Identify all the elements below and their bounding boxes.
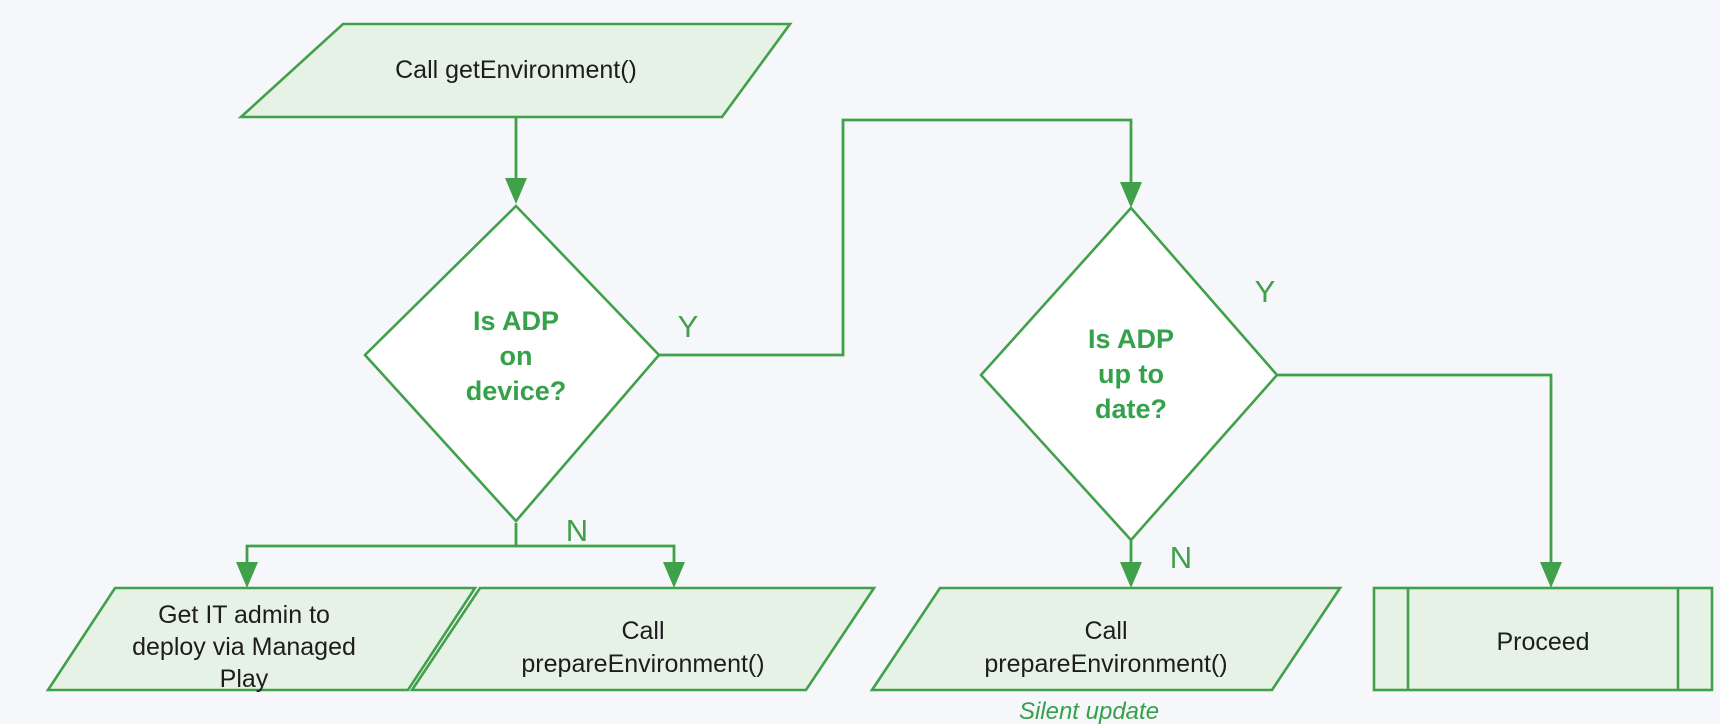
node-call-get-environment[interactable]: Call getEnvironment() bbox=[241, 24, 790, 117]
node-call-prepare-environment-right[interactable]: Call prepareEnvironment() bbox=[872, 588, 1340, 690]
annotation-silent-update: Silent update bbox=[1019, 698, 1159, 724]
node-decision-is-adp-up-to-date-line3: date? bbox=[1095, 394, 1167, 424]
node-call-prepare-environment-left-line2: prepareEnvironment() bbox=[521, 650, 764, 678]
branch-label-up-to-date-no: N bbox=[1170, 540, 1192, 575]
flowchart-canvas: Call getEnvironment() Is ADP on device? … bbox=[0, 0, 1720, 724]
node-decision-is-adp-up-to-date-line2: up to bbox=[1098, 359, 1164, 389]
node-call-get-environment-label: Call getEnvironment() bbox=[395, 56, 637, 84]
node-decision-is-adp-on-device-line2: on bbox=[500, 341, 533, 371]
branch-label-up-to-date-yes: Y bbox=[1255, 274, 1276, 309]
connector-up-to-date-yes-to-proceed bbox=[1276, 375, 1562, 588]
node-call-prepare-environment-right-line2: prepareEnvironment() bbox=[984, 650, 1227, 678]
node-decision-is-adp-on-device-line1: Is ADP bbox=[473, 306, 559, 336]
node-proceed[interactable]: Proceed bbox=[1374, 588, 1712, 690]
node-get-it-admin-deploy-line3: Play bbox=[220, 665, 269, 693]
node-get-it-admin-deploy[interactable]: Get IT admin to deploy via Managed Play bbox=[48, 588, 475, 693]
node-get-it-admin-deploy-line2: deploy via Managed bbox=[132, 633, 356, 661]
node-call-prepare-environment-right-line1: Call bbox=[1084, 617, 1127, 645]
node-call-prepare-environment-left[interactable]: Call prepareEnvironment() bbox=[412, 588, 874, 690]
node-get-it-admin-deploy-line1: Get IT admin to bbox=[158, 601, 330, 629]
node-decision-is-adp-on-device-line3: device? bbox=[466, 376, 567, 406]
connector-on-device-no-bus bbox=[236, 523, 685, 588]
node-decision-is-adp-on-device[interactable]: Is ADP on device? bbox=[365, 206, 659, 521]
branch-label-on-device-yes: Y bbox=[678, 309, 699, 344]
branch-label-on-device-no: N bbox=[566, 513, 588, 548]
node-decision-is-adp-up-to-date-line1: Is ADP bbox=[1088, 324, 1174, 354]
node-call-prepare-environment-left-line1: Call bbox=[621, 617, 664, 645]
node-decision-is-adp-up-to-date[interactable]: Is ADP up to date? bbox=[981, 208, 1277, 540]
node-proceed-label: Proceed bbox=[1496, 628, 1589, 656]
flowchart-svg: Call getEnvironment() Is ADP on device? … bbox=[0, 0, 1720, 724]
connector-start-to-on-device bbox=[505, 118, 527, 204]
